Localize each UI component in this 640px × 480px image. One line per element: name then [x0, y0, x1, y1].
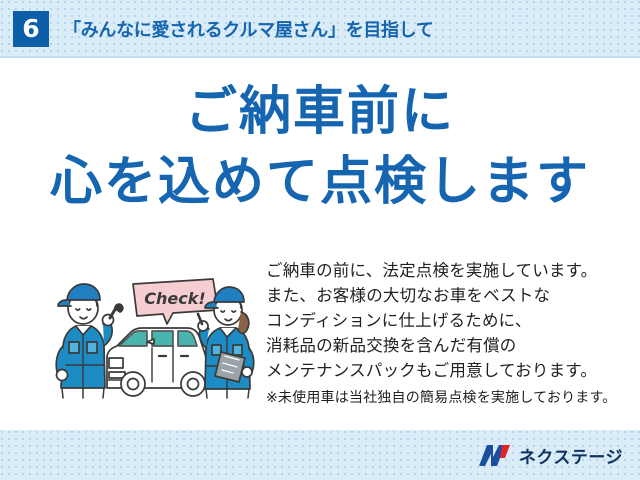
- body-line-2: また、お客様の大切なお車をベストな: [266, 283, 630, 308]
- body-note: ※未使用車は当社独自の簡易点検を実施しております。: [266, 387, 630, 409]
- header-band: 6 「みんなに愛されるクルマ屋さん」を目指して: [0, 0, 640, 58]
- body-line-4: 消耗品の新品交換を含んだ有償の: [266, 333, 630, 358]
- section-number-badge: 6: [13, 11, 49, 47]
- footer-band: ネクステージ: [0, 430, 640, 480]
- header-title: 「みんなに愛されるクルマ屋さん」を目指して: [63, 16, 434, 42]
- mechanic-right-figure: [198, 287, 254, 398]
- mechanics-illustration: Check!: [55, 262, 270, 402]
- headline-line-2: 心を込めて点検します: [0, 140, 640, 210]
- promo-page: 6 「みんなに愛されるクルマ屋さん」を目指して ご納車前に 心を込めて点検します: [0, 0, 640, 480]
- body-line-1: ご納車の前に、法定点検を実施しています。: [266, 258, 630, 283]
- brand-name: ネクステージ: [519, 443, 623, 468]
- van-illustration: [107, 328, 207, 396]
- headline: ご納車前に 心を込めて点検します: [0, 66, 640, 210]
- brand-lockup: ネクステージ: [478, 443, 623, 468]
- body-line-3: コンディションに仕上げるために、: [266, 308, 630, 333]
- check-bubble-label: Check!: [144, 289, 205, 308]
- body-copy: ご納車の前に、法定点検を実施しています。 また、お客様の大切なお車をベストな コ…: [266, 258, 630, 409]
- nextage-logo-icon: [478, 444, 512, 467]
- body-line-5: メンテナンスパックもご用意しております。: [266, 358, 630, 383]
- headline-line-1: ご納車前に: [0, 66, 640, 140]
